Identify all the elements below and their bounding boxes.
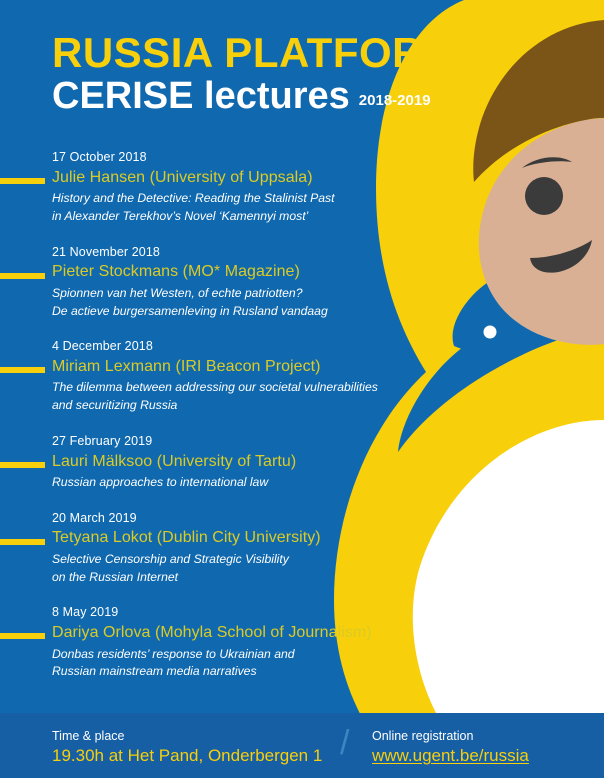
footer-divider-slash: / [340,726,349,760]
poster-title-sub: CERISE lectures [52,77,350,115]
lecture-topic-line2: Russian mainstream media narratives [52,663,420,681]
lecture-item: 21 November 2018 Pieter Stockmans (MO* M… [0,243,420,321]
lecture-date: 8 May 2019 [52,603,420,622]
eye [525,177,563,215]
lecture-item: 4 December 2018 Miriam Lexmann (IRI Beac… [0,337,420,415]
footer-registration-label: Online registration [372,727,529,745]
lecture-item: 17 October 2018 Julie Hansen (University… [0,148,420,226]
lecture-item: 8 May 2019 Dariya Orlova (Mohyla School … [0,603,420,681]
poster-header: RUSSIA PLATFORM CERISE lectures 2018-201… [52,32,472,115]
petal-dot [484,326,497,339]
lecture-speaker: Miriam Lexmann (IRI Beacon Project) [52,357,420,377]
footer-registration-block: Online registration www.ugent.be/russia [372,727,529,767]
lecture-topic-line2: De actieve burgersamenleving in Rusland … [52,303,420,321]
petal-dot [518,298,538,318]
lecture-dash-marker [0,633,45,639]
doll-facial-features [522,157,592,272]
lecture-topic-line1: Selective Censorship and Strategic Visib… [52,551,420,569]
doll-apron-panel [413,420,604,740]
lecture-item: 27 February 2019 Lauri Mälksoo (Universi… [0,432,420,492]
lecture-topic-line1: Spionnen van het Westen, of echte patrio… [52,285,420,303]
lecture-dash-marker [0,273,45,279]
poster-footer: Time & place 19.30h at Het Pand, Onderbe… [0,713,604,778]
footer-time-place-block: Time & place 19.30h at Het Pand, Onderbe… [52,727,322,767]
doll-hair [473,20,604,182]
lecture-topic-line1: Donbas residents’ response to Ukrainian … [52,646,420,664]
lecture-topic-line1: The dilemma between addressing our socie… [52,379,420,397]
lecture-speaker: Lauri Mälksoo (University of Tartu) [52,452,420,472]
lecture-date: 4 December 2018 [52,337,420,356]
lecture-topic-line2: in Alexander Terekhov’s Novel ‘Kamennyi … [52,208,420,226]
footer-time-label: Time & place [52,727,322,745]
lecture-list: 17 October 2018 Julie Hansen (University… [0,148,420,698]
lecture-item: 20 March 2019 Tetyana Lokot (Dublin City… [0,509,420,587]
lecture-date: 17 October 2018 [52,148,420,167]
lecture-date: 21 November 2018 [52,243,420,262]
lecture-topic-line2: and securitizing Russia [52,397,420,415]
poster-canvas: RUSSIA PLATFORM CERISE lectures 2018-201… [0,0,604,778]
lecture-dash-marker [0,462,45,468]
mouth [530,240,592,273]
poster-years: 2018-2019 [359,92,431,109]
lecture-topic-line1: History and the Detective: Reading the S… [52,190,420,208]
petal-dot [594,264,604,277]
lecture-dash-marker [0,539,45,545]
lecture-speaker: Pieter Stockmans (MO* Magazine) [52,262,420,282]
lecture-speaker: Tetyana Lokot (Dublin City University) [52,528,420,548]
doll-face [479,118,604,345]
poster-subtitle-row: CERISE lectures 2018-2019 [52,77,472,115]
doll-floral-decoration [398,258,604,452]
poster-title-main: RUSSIA PLATFORM [52,32,472,75]
registration-url-link[interactable]: www.ugent.be/russia [372,746,529,766]
footer-time-value: 19.30h at Het Pand, Onderbergen 1 [52,746,322,766]
lecture-date: 20 March 2019 [52,509,420,528]
lecture-date: 27 February 2019 [52,432,420,451]
lecture-speaker: Dariya Orlova (Mohyla School of Journali… [52,623,420,643]
lecture-topic-line2: on the Russian Internet [52,569,420,587]
lecture-dash-marker [0,178,45,184]
lecture-dash-marker [0,367,45,373]
eyebrow [522,157,572,168]
lecture-speaker: Julie Hansen (University of Uppsala) [52,168,420,188]
lecture-topic-line1: Russian approaches to international law [52,474,420,492]
